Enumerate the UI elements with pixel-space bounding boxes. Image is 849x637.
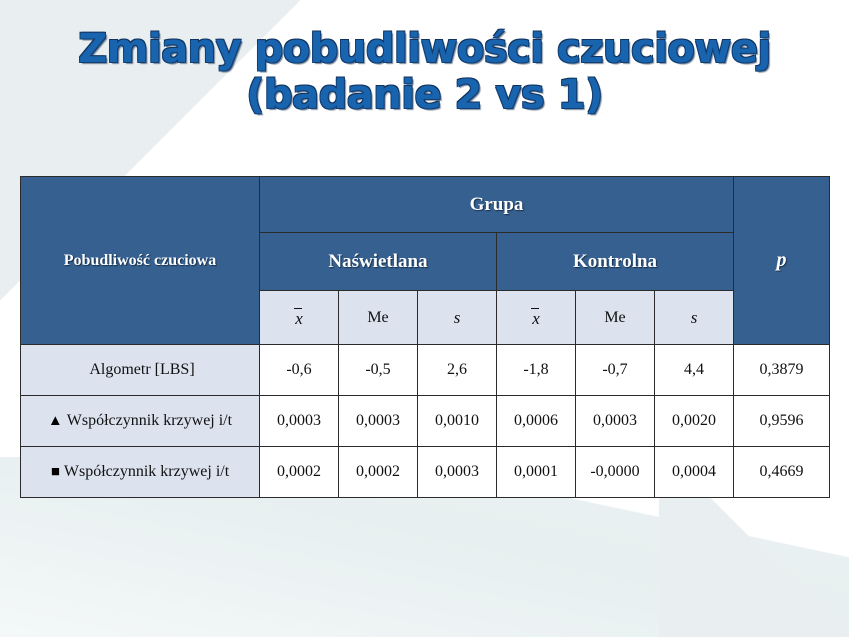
cell-1-p: 0,9596 <box>734 396 830 447</box>
row-label-text-2: Współczynnik krzywej i/t <box>64 463 229 480</box>
row-label-text-0: Algometr [LBS] <box>89 361 194 378</box>
cell-0-p: 0,3879 <box>734 345 830 396</box>
row-label-text-1: Współczynnik krzywej i/t <box>67 412 232 429</box>
row-label-cell-1: ▲Współczynnik krzywej i/t <box>21 396 260 447</box>
header-cell-stat-sd-2: s <box>655 291 734 345</box>
square-marker: ■ <box>51 464 60 480</box>
statistics-table: Pobudliwość czuciowa Grupa p Naświetlana… <box>20 176 830 498</box>
slide-title: Zmiany pobudliwości czuciowej (badanie 2… <box>0 26 849 118</box>
header-cell-group-naswietlana: Naświetlana <box>260 233 497 291</box>
table-header-row-group: Pobudliwość czuciowa Grupa p <box>21 177 830 233</box>
cell-2-p: 0,4669 <box>734 447 830 498</box>
header-cell-grupa: Grupa <box>260 177 734 233</box>
cell-2-0: 0,0002 <box>260 447 339 498</box>
header-cell-stat-mean-2: x <box>497 291 576 345</box>
cell-1-5: 0,0020 <box>655 396 734 447</box>
row-label-cell-2: ■Współczynnik krzywej i/t <box>21 447 260 498</box>
cell-0-4: -0,7 <box>576 345 655 396</box>
header-cell-stat-median-1: Me <box>339 291 418 345</box>
cell-2-4: -0,0000 <box>576 447 655 498</box>
header-cell-p: p <box>734 177 830 345</box>
cell-1-1: 0,0003 <box>339 396 418 447</box>
cell-0-5: 4,4 <box>655 345 734 396</box>
cell-0-1: -0,5 <box>339 345 418 396</box>
row-label-cell-0: Algometr [LBS] <box>21 345 260 396</box>
table-row: Algometr [LBS] -0,6 -0,5 2,6 -1,8 -0,7 4… <box>21 345 830 396</box>
cell-1-3: 0,0006 <box>497 396 576 447</box>
header-cell-stat-mean-1: x <box>260 291 339 345</box>
header-cell-stat-sd-1: s <box>418 291 497 345</box>
mean-symbol-1: x <box>295 307 303 329</box>
cell-1-0: 0,0003 <box>260 396 339 447</box>
mean-symbol-2: x <box>532 307 540 329</box>
cell-2-2: 0,0003 <box>418 447 497 498</box>
cell-0-3: -1,8 <box>497 345 576 396</box>
statistics-table-container: Pobudliwość czuciowa Grupa p Naświetlana… <box>20 176 829 498</box>
table-row: ■Współczynnik krzywej i/t 0,0002 0,0002 … <box>21 447 830 498</box>
cell-1-2: 0,0010 <box>418 396 497 447</box>
median-symbol-1: Me <box>367 309 388 326</box>
header-cell-group-kontrolna: Kontrolna <box>497 233 734 291</box>
table-row: ▲Współczynnik krzywej i/t 0,0003 0,0003 … <box>21 396 830 447</box>
cell-0-2: 2,6 <box>418 345 497 396</box>
cell-2-5: 0,0004 <box>655 447 734 498</box>
header-cell-row-label: Pobudliwość czuciowa <box>21 177 260 345</box>
median-symbol-2: Me <box>604 309 625 326</box>
slide-title-line-1: Zmiany pobudliwości czuciowej <box>0 26 849 72</box>
cell-2-1: 0,0002 <box>339 447 418 498</box>
sd-symbol-2: s <box>691 308 698 327</box>
cell-2-3: 0,0001 <box>497 447 576 498</box>
triangle-marker: ▲ <box>48 413 63 429</box>
header-cell-stat-median-2: Me <box>576 291 655 345</box>
sd-symbol-1: s <box>454 308 461 327</box>
slide-title-line-2: (badanie 2 vs 1) <box>0 72 849 118</box>
cell-1-4: 0,0003 <box>576 396 655 447</box>
cell-0-0: -0,6 <box>260 345 339 396</box>
